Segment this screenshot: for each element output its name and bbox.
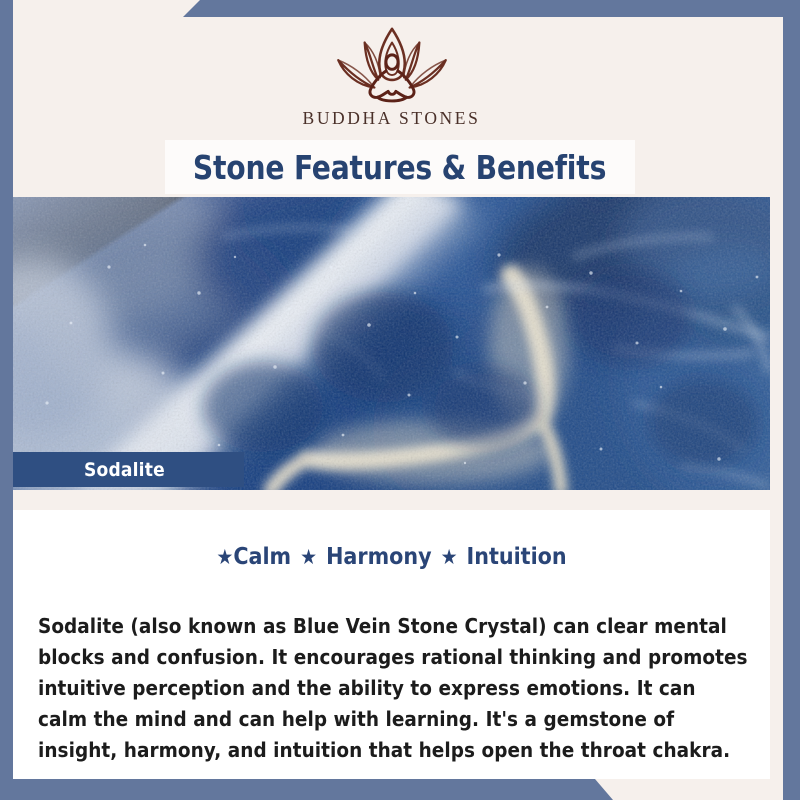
star-icon: ★	[441, 545, 458, 569]
brand-logo: BUDDHA STONES	[13, 23, 770, 128]
decor-band-right	[783, 0, 800, 800]
benefit-keywords: ★Calm★Harmony★Intuition	[13, 544, 770, 570]
star-icon: ★	[300, 545, 317, 569]
stone-features-infographic: BUDDHA STONES Stone Features & Benefits	[0, 0, 800, 800]
benefit-keyword-intuition: Intuition	[467, 544, 567, 570]
content-card: BUDDHA STONES Stone Features & Benefits	[13, 17, 770, 779]
brand-header: BUDDHA STONES	[13, 17, 770, 147]
lotus-meditation-figure-icon	[317, 23, 467, 109]
sodalite-stone-photo	[13, 197, 770, 490]
stone-description: Sodalite (also known as Blue Vein Stone …	[38, 611, 748, 766]
decor-band-left	[0, 0, 13, 800]
page-title: Stone Features & Benefits	[193, 148, 606, 187]
title-plate: Stone Features & Benefits	[165, 140, 635, 194]
star-icon: ★	[216, 545, 233, 569]
stone-name: Sodalite	[84, 459, 165, 481]
benefit-keyword-calm: Calm	[233, 544, 291, 570]
decor-band-top	[0, 0, 800, 17]
description-panel: ★Calm★Harmony★Intuition Sodalite (also k…	[13, 510, 770, 779]
stone-name-banner: Sodalite	[13, 452, 244, 487]
decor-band-bottom	[0, 779, 800, 800]
separator-strip	[13, 490, 770, 510]
benefit-keyword-harmony: Harmony	[326, 544, 432, 570]
brand-name: BUDDHA STONES	[303, 110, 481, 128]
